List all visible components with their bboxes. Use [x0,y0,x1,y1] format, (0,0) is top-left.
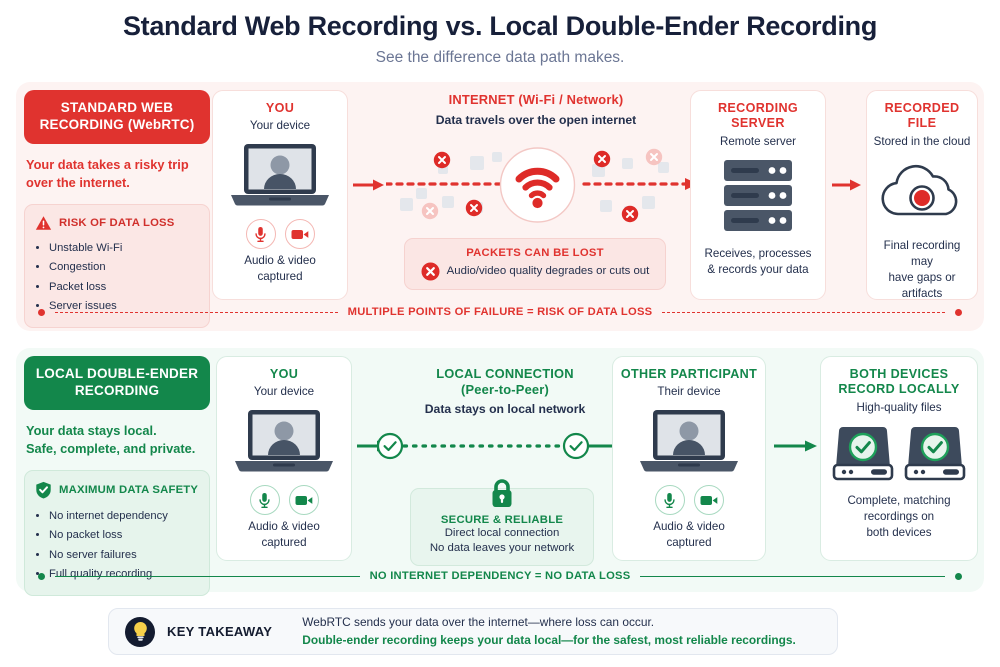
recording-server-card: RECORDING SERVER Remote server [690,90,826,300]
internet-title: INTERNET (Wi-Fi / Network) [386,92,686,108]
server-rack-icon [697,158,819,234]
page-subtitle: See the difference data path makes. [0,49,1000,67]
recorded-file-footer: Final recording mayhave gaps or artifact… [873,238,971,302]
cloud-record-icon [873,162,971,224]
arrow-you-to-internet [353,178,385,192]
local-you-card: YOU Your device [216,356,352,561]
banner-line-right [662,312,945,313]
risk-list: Unstable Wi-Fi Congestion Packet loss Se… [49,239,199,317]
packets-lost-body: Audio/video quality degrades or cuts out [447,264,650,279]
shield-check-icon [35,481,52,499]
other-participant-card: OTHER PARTICIPANT Their device [612,356,766,561]
local-badge: LOCAL DOUBLE-ENDER RECORDING [24,356,210,410]
page-header: Standard Web Recording vs. Local Double-… [0,0,1000,67]
banner-dot-right [955,309,962,316]
risk-callout-title: RISK OF DATA LOSS [59,217,175,229]
recording-server-subtitle: Remote server [697,135,819,148]
other-participant-footer: Audio & videocaptured [619,519,759,551]
both-devices-footer: Complete, matchingrecordings onboth devi… [827,493,971,541]
other-participant-title: OTHER PARTICIPANT [619,367,759,382]
internet-block: INTERNET (Wi-Fi / Network) Data travels … [386,92,686,127]
banner-line-left [55,576,360,577]
recorded-file-card: RECORDED FILE Stored in the cloud Final … [866,90,978,300]
local-connection-title: LOCAL CONNECTION [390,366,620,382]
banner-dot-left [38,309,45,316]
standard-you-subtitle: Your device [219,119,341,132]
standard-badge: STANDARD WEB RECORDING (WebRTC) [24,90,210,144]
laptop-person-icon [619,407,759,479]
standard-you-footer: Audio & videocaptured [219,253,341,285]
standard-you-title: YOU [219,101,341,116]
list-item: No packet loss [49,526,199,545]
list-item: Packet loss [49,278,199,297]
key-takeaway-line-1: WebRTC sends your data over the internet… [302,614,796,631]
page-title: Standard Web Recording vs. Local Double-… [0,10,1000,42]
banner-dot-left [38,573,45,580]
packets-lost-title: PACKETS CAN BE LOST [415,247,655,259]
both-devices-card: BOTH DEVICESRECORD LOCALLY High-quality … [820,356,978,561]
hard-drive-check-icon [827,425,971,483]
lock-icon [421,477,583,511]
local-you-title: YOU [223,367,345,382]
standard-subtitle: Your data takes a risky trip over the in… [24,156,210,192]
standard-banner-label: MULTIPLE POINTS OF FAILURE = RISK OF DAT… [348,306,653,318]
lightbulb-icon [125,617,155,647]
video-camera-icon [694,485,724,515]
banner-line-right [640,576,945,577]
laptop-person-icon [219,141,341,213]
standard-web-recording-section: STANDARD WEB RECORDING (WebRTC) Your dat… [16,82,984,331]
secure-reliable-title: SECURE & RELIABLE [421,514,583,526]
standard-you-av-icons [219,219,341,249]
local-banner: NO INTERNET DEPENDENCY = NO DATA LOSS [16,570,984,582]
other-participant-subtitle: Their device [619,385,759,398]
video-camera-icon [285,219,315,249]
wifi-badge [499,146,576,224]
key-takeaway-label: KEY TAKEAWAY [167,624,272,639]
x-circle-icon [421,262,440,281]
recording-server-footer: Receives, processes& records your data [697,246,819,278]
microphone-icon [655,485,685,515]
list-item: No internet dependency [49,507,199,526]
check-circle-icon [564,434,588,458]
local-connection-block: LOCAL CONNECTION (Peer-to-Peer) Data sta… [390,366,620,416]
warning-triangle-icon [35,215,52,231]
banner-dot-right [955,573,962,580]
local-you-subtitle: Your device [223,385,345,398]
standard-you-card: YOU Your device [212,90,348,300]
list-item: Congestion [49,258,199,277]
local-you-footer: Audio & videocaptured [223,519,345,551]
recording-server-title: RECORDING SERVER [697,101,819,132]
local-connection-title2: (Peer-to-Peer) [390,382,620,398]
other-participant-av-icons [619,485,759,515]
packets-lost-note: PACKETS CAN BE LOST Audio/video quality … [404,238,666,290]
list-item: No server failures [49,546,199,565]
secure-reliable-body-2: No data leaves your network [421,541,583,556]
banner-line-left [55,312,338,313]
list-item: Unstable Wi-Fi [49,239,199,258]
risk-callout-header: RISK OF DATA LOSS [35,215,199,231]
local-intro-panel: LOCAL DOUBLE-ENDER RECORDING Your data s… [24,356,210,596]
microphone-icon [246,219,276,249]
local-connection-subtitle: Data stays on local network [390,402,620,416]
secure-reliable-body-1: Direct local connection [421,526,583,541]
standard-banner: MULTIPLE POINTS OF FAILURE = RISK OF DAT… [16,306,984,318]
safety-callout-header: MAXIMUM DATA SAFETY [35,481,199,499]
local-banner-label: NO INTERNET DEPENDENCY = NO DATA LOSS [370,570,631,582]
recorded-file-subtitle: Stored in the cloud [873,135,971,148]
local-double-ender-section: LOCAL DOUBLE-ENDER RECORDING Your data s… [16,348,984,592]
key-takeaway: KEY TAKEAWAY WebRTC sends your data over… [108,608,838,655]
both-devices-title: BOTH DEVICESRECORD LOCALLY [827,367,971,398]
key-takeaway-line-2: Double-ender recording keeps your data l… [302,632,796,649]
local-subtitle: Your data stays local.Safe, complete, an… [24,422,210,458]
infographic-page: Standard Web Recording vs. Local Double-… [0,0,1000,667]
recorded-file-title: RECORDED FILE [873,101,971,132]
key-takeaway-text: WebRTC sends your data over the internet… [302,614,796,649]
both-devices-subtitle: High-quality files [827,401,971,414]
safety-callout-title: MAXIMUM DATA SAFETY [59,484,198,496]
secure-reliable-note: SECURE & RELIABLE Direct local connectio… [410,488,594,566]
local-you-av-icons [223,485,345,515]
arrow-server-to-file [832,178,862,192]
internet-subtitle: Data travels over the open internet [386,113,686,127]
video-camera-icon [289,485,319,515]
standard-intro-panel: STANDARD WEB RECORDING (WebRTC) Your dat… [24,90,210,328]
microphone-icon [250,485,280,515]
p2p-lane [376,430,628,462]
check-circle-icon [378,434,402,458]
arrow-peer-to-storage [774,439,818,453]
laptop-person-icon [223,407,345,479]
